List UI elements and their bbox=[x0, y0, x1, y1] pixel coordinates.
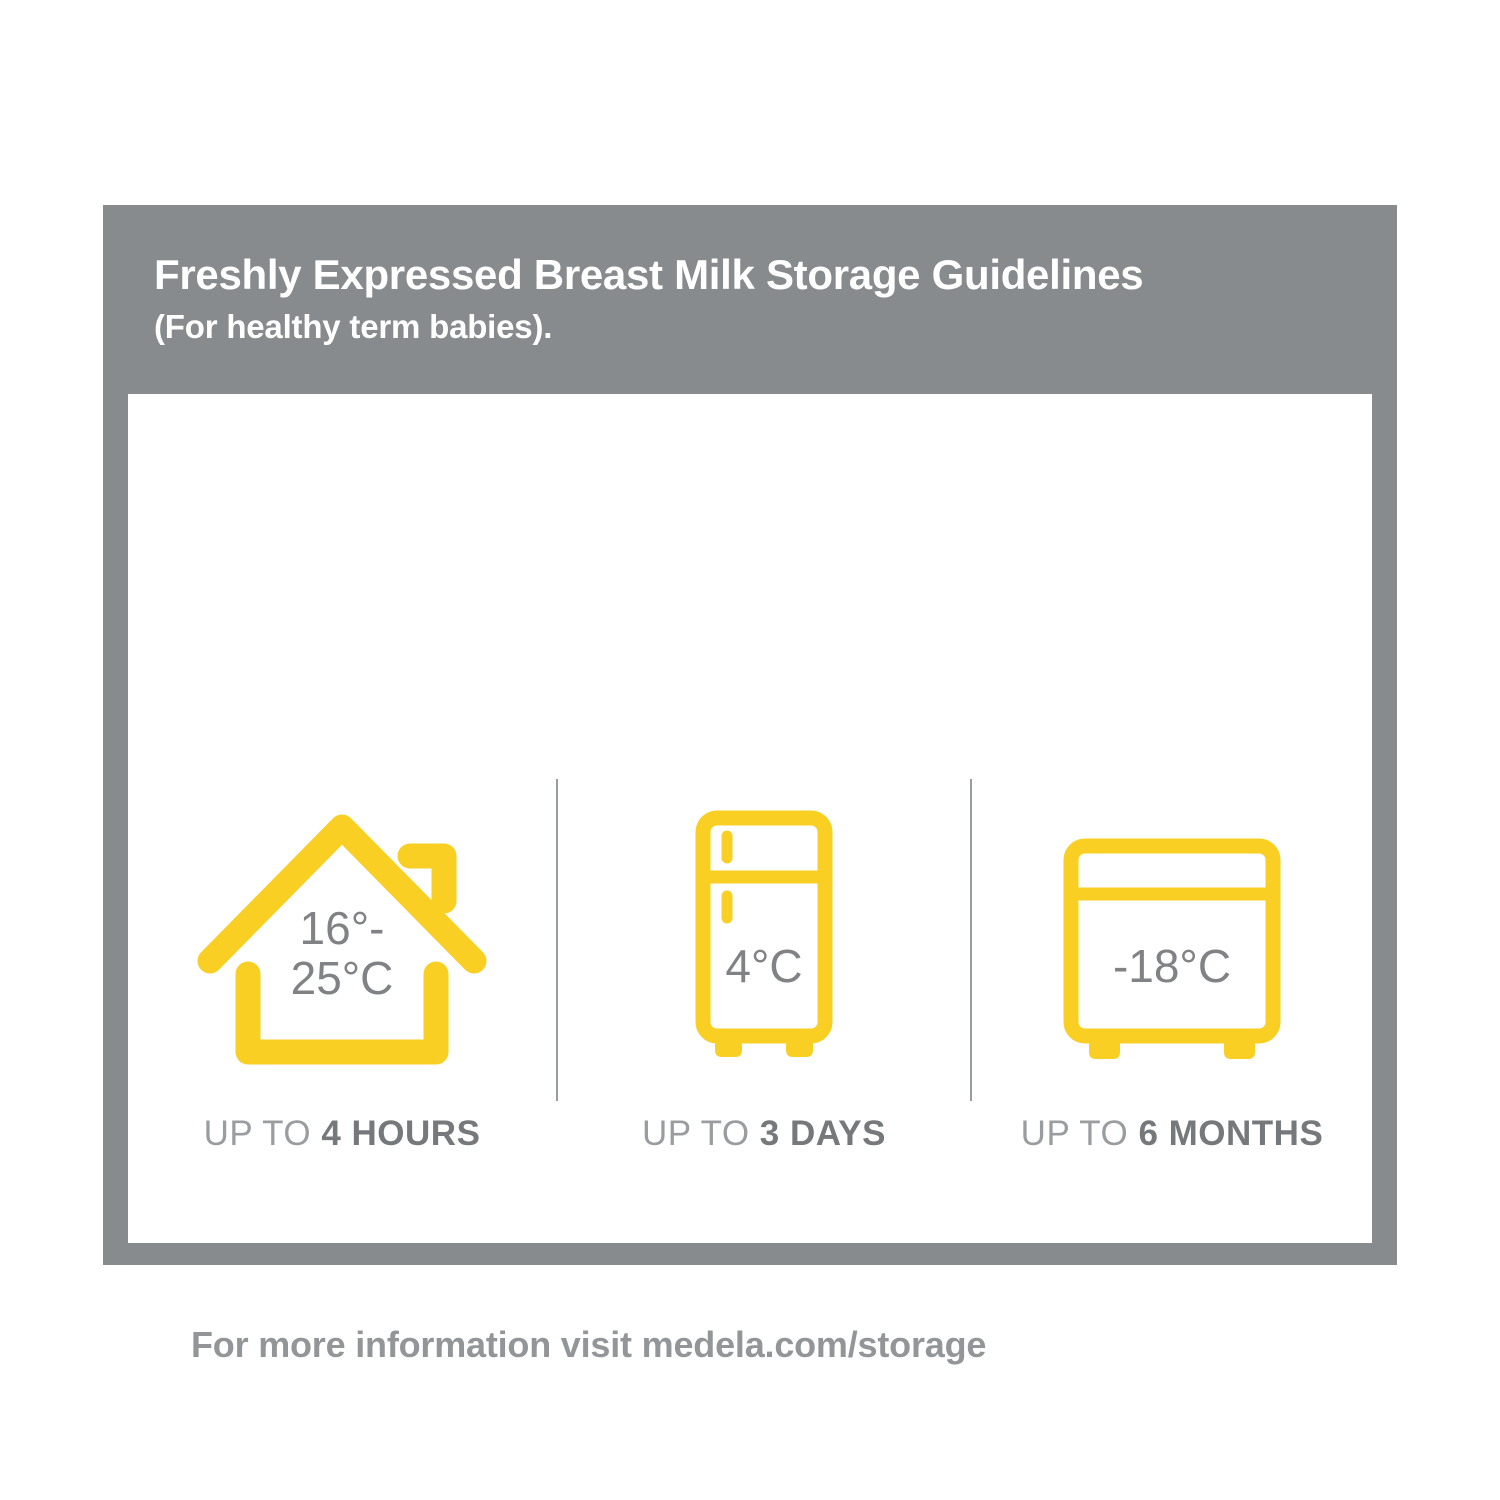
house-icon-wrap: 16°- 25°C bbox=[128, 782, 556, 1074]
footer-info-text: For more information visit medela.com/st… bbox=[191, 1324, 986, 1366]
freezer-storage-caption: UP TO 6 MONTHS bbox=[972, 1114, 1372, 1154]
caption-prefix: UP TO bbox=[1021, 1114, 1139, 1153]
room-temperature-value: 16°- 25°C bbox=[192, 904, 492, 1003]
freezer-temperature-value: -18°C bbox=[1057, 942, 1287, 992]
freezer-icon-wrap: -18°C bbox=[972, 782, 1372, 1074]
infographic-header: Freshly Expressed Breast Milk Storage Gu… bbox=[154, 250, 1354, 347]
refrigerator-storage-caption: UP TO 3 DAYS bbox=[558, 1114, 970, 1154]
refrigerator-icon-wrap: 4°C bbox=[558, 782, 970, 1074]
page-subtitle: (For healthy term babies). bbox=[154, 306, 1354, 347]
caption-prefix: UP TO bbox=[642, 1114, 760, 1153]
refrigerator-temperature-value: 4°C bbox=[669, 942, 859, 992]
storage-column-freezer: -18°C UP TO 6 MONTHS bbox=[972, 394, 1372, 1243]
caption-duration: 6 MONTHS bbox=[1138, 1114, 1323, 1153]
refrigerator-icon bbox=[669, 804, 859, 1074]
storage-columns: 16°- 25°C UP TO 4 HOURS bbox=[128, 394, 1372, 1243]
page-title: Freshly Expressed Breast Milk Storage Gu… bbox=[154, 250, 1354, 300]
caption-duration: 4 HOURS bbox=[321, 1114, 480, 1153]
content-panel: 16°- 25°C UP TO 4 HOURS bbox=[128, 394, 1372, 1243]
storage-column-room: 16°- 25°C UP TO 4 HOURS bbox=[128, 394, 556, 1243]
caption-duration: 3 DAYS bbox=[760, 1114, 886, 1153]
storage-guidelines-infographic: Freshly Expressed Breast Milk Storage Gu… bbox=[103, 205, 1397, 1265]
room-storage-caption: UP TO 4 HOURS bbox=[128, 1114, 556, 1154]
freezer-icon bbox=[1057, 804, 1287, 1074]
storage-column-refrigerator: 4°C UP TO 3 DAYS bbox=[558, 394, 970, 1243]
caption-prefix: UP TO bbox=[204, 1114, 322, 1153]
